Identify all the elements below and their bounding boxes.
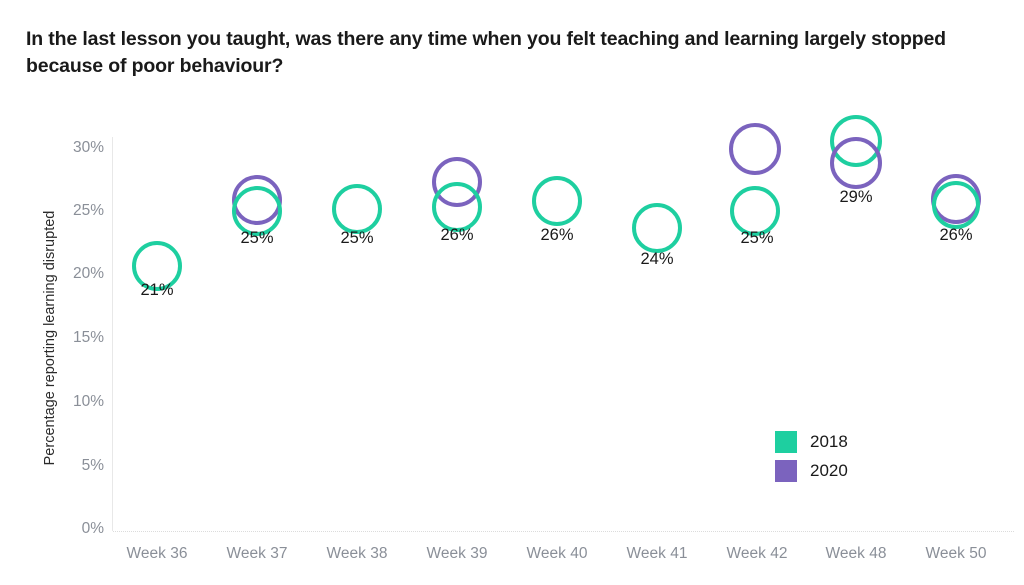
legend-item-2018[interactable]: 2018 <box>775 427 848 456</box>
x-axis-tick-label: Week 37 <box>227 545 288 563</box>
x-axis-tick-label: Week 41 <box>627 545 688 563</box>
y-axis-tick-label: 0% <box>52 520 104 538</box>
y-axis-tick-label: 20% <box>52 265 104 283</box>
y-axis-tick-label: 25% <box>52 202 104 220</box>
y-axis-tick-label: 10% <box>52 393 104 411</box>
chart-legend: 20182020 <box>775 427 848 485</box>
bubble-chart: Percentage reporting learning disrupted … <box>0 0 1024 585</box>
x-axis-tick-label: Week 48 <box>826 545 887 563</box>
data-point-label: 25% <box>740 229 773 248</box>
bubble-2020-week-48[interactable] <box>830 137 882 189</box>
y-axis-tick-label: 30% <box>52 139 104 157</box>
bubble-2020-week-42[interactable] <box>729 123 781 175</box>
data-point-label: 29% <box>839 188 872 207</box>
y-axis-tick-label: 5% <box>52 457 104 475</box>
legend-swatch-icon <box>775 431 797 453</box>
x-axis-line <box>113 531 1014 532</box>
bubble-2018-week-50[interactable] <box>932 181 980 229</box>
data-point-label: 24% <box>640 250 673 269</box>
data-point-label: 21% <box>140 281 173 300</box>
legend-label: 2020 <box>810 461 848 481</box>
x-axis-tick-label: Week 38 <box>327 545 388 563</box>
bubble-2018-week-41[interactable] <box>632 203 682 253</box>
x-axis-tick-label: Week 36 <box>127 545 188 563</box>
x-axis-tick-label: Week 40 <box>527 545 588 563</box>
legend-item-2020[interactable]: 2020 <box>775 456 848 485</box>
data-point-label: 25% <box>240 229 273 248</box>
data-point-label: 25% <box>340 229 373 248</box>
data-point-label: 26% <box>440 226 473 245</box>
data-point-label: 26% <box>939 226 972 245</box>
legend-swatch-icon <box>775 460 797 482</box>
x-axis-tick-label: Week 50 <box>926 545 987 563</box>
bubble-2018-week-40[interactable] <box>532 176 582 226</box>
data-point-label: 26% <box>540 226 573 245</box>
y-axis-tick-label: 15% <box>52 329 104 347</box>
legend-label: 2018 <box>810 432 848 452</box>
bubble-2018-week-39[interactable] <box>432 182 482 232</box>
x-axis-tick-label: Week 39 <box>427 545 488 563</box>
y-axis-line <box>112 137 113 531</box>
x-axis-tick-label: Week 42 <box>727 545 788 563</box>
y-axis-tick-group: 30%25%20%15%10%5%0% <box>52 0 104 585</box>
bubble-2018-week-38[interactable] <box>332 184 382 234</box>
